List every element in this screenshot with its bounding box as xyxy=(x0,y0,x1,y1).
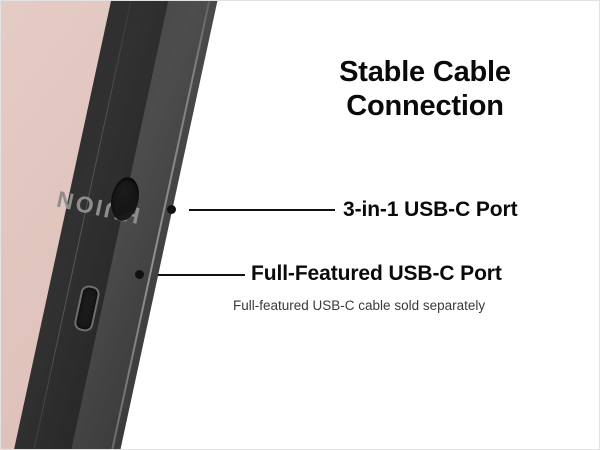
headline-line-1: Stable Cable xyxy=(275,56,575,90)
callout-subtext: Full-featured USB-C cable sold separatel… xyxy=(233,298,485,313)
callout-leader-line xyxy=(189,209,335,211)
tablet-device: HUION xyxy=(0,0,229,450)
page-title: Stable Cable Connection xyxy=(275,56,575,123)
callout-label: Full-Featured USB-C Port xyxy=(251,262,502,286)
product-feature-image: HUION Stable Cable Connection 3-in-1 USB… xyxy=(0,0,600,450)
callout-label: 3-in-1 USB-C Port xyxy=(343,198,517,222)
callout-leader-line xyxy=(158,274,245,276)
headline-line-2: Connection xyxy=(275,90,575,124)
